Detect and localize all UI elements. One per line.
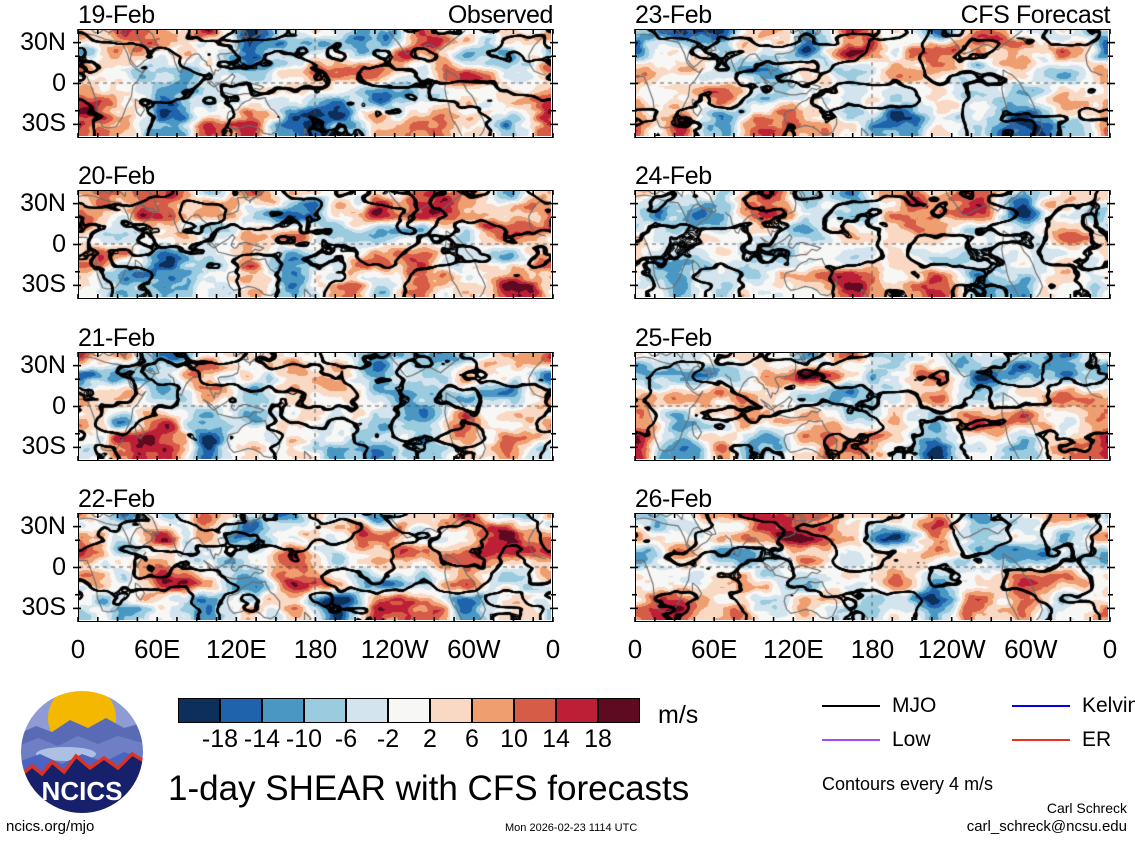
- x-axis-label: 180: [851, 636, 894, 662]
- shear-anomaly-field: [79, 353, 551, 459]
- panel-date-label: 26-Feb: [635, 487, 712, 512]
- map-panel-19-feb: 19-FebObserved: [78, 3, 553, 138]
- map-panel-24-feb: 24-Feb: [635, 164, 1110, 299]
- shear-anomaly-field: [79, 514, 551, 620]
- x-axis-label: 0: [546, 636, 560, 662]
- colorbar-tick-label: -10: [286, 727, 322, 752]
- colorbar-tick-label: -18: [202, 727, 238, 752]
- map-plot-area: [635, 29, 1110, 138]
- legend-item-mjo: MJO: [822, 694, 1002, 722]
- legend-label: MJO: [892, 695, 936, 716]
- legend-line-swatch: [1012, 739, 1070, 741]
- colorbar-tick-label: 14: [542, 727, 570, 752]
- map-plot-area: [78, 190, 553, 299]
- map-plot-area: [78, 513, 553, 622]
- colorbar-tick-label: 2: [423, 727, 437, 752]
- colorbar-group: [178, 698, 640, 723]
- x-axis-label: 120E: [763, 636, 824, 662]
- colorbar-tick-label: 10: [500, 727, 528, 752]
- footer-email-link[interactable]: carl_schreck@ncsu.edu: [967, 819, 1127, 834]
- contour-interval-note: Contours every 4 m/s: [822, 775, 993, 793]
- shear-anomaly-field: [636, 514, 1108, 620]
- panel-date-label: 25-Feb: [635, 326, 712, 351]
- footer-author-name: Carl Schreck: [1047, 801, 1127, 815]
- shear-anomaly-field: [636, 30, 1108, 136]
- x-axis-label: 60W: [1004, 636, 1057, 662]
- footer-timestamp: Mon 2026-02-23 1114 UTC: [505, 823, 637, 834]
- colorbar-tick-label: 6: [465, 727, 479, 752]
- ncics-logo[interactable]: NCICS: [18, 688, 146, 816]
- colorbar-tick-label: -14: [244, 727, 280, 752]
- y-axis-label: 30N: [0, 30, 66, 55]
- column-header-label: CFS Forecast: [961, 3, 1110, 28]
- panel-date-label: 20-Feb: [78, 164, 155, 189]
- map-plot-area: [78, 352, 553, 461]
- legend-label: Low: [892, 729, 931, 750]
- legend-line-swatch: [822, 705, 880, 707]
- x-axis-label: 60E: [134, 636, 180, 662]
- y-axis-label: 30S: [0, 272, 66, 297]
- map-plot-area: [78, 29, 553, 138]
- x-axis-label: 180: [294, 636, 337, 662]
- main-title: 1-day SHEAR with CFS forecasts: [168, 771, 689, 806]
- panel-date-label: 22-Feb: [78, 487, 155, 512]
- y-axis-label: 0: [0, 555, 66, 580]
- colorbar-units-label: m/s: [658, 703, 698, 728]
- panel-date-label: 19-Feb: [78, 3, 155, 28]
- map-panel-21-feb: 21-Feb: [78, 326, 553, 461]
- map-panel-26-feb: 26-Feb: [635, 487, 1110, 622]
- x-axis-label: 0: [1103, 636, 1117, 662]
- column-header-label: Observed: [448, 3, 553, 28]
- legend-line-swatch: [1012, 705, 1070, 707]
- y-axis-label: 30S: [0, 434, 66, 459]
- colorbar-tick-label: -6: [335, 727, 357, 752]
- legend-item-er: ER: [1012, 728, 1135, 756]
- y-axis-label: 0: [0, 71, 66, 96]
- ncics-logo-text: NCICS: [42, 776, 123, 806]
- colorbar-frame: [178, 698, 640, 723]
- legend-line-swatch: [822, 739, 880, 741]
- shear-anomaly-field: [636, 353, 1108, 459]
- colorbar-tick-label: 18: [584, 727, 612, 752]
- y-axis-label: 30N: [0, 514, 66, 539]
- legend-item-low: Low: [822, 728, 1002, 756]
- y-axis-label: 30S: [0, 111, 66, 136]
- x-axis-label: 60E: [691, 636, 737, 662]
- ncics-logo-graphic: NCICS: [18, 688, 146, 816]
- x-axis-label: 120E: [206, 636, 267, 662]
- map-plot-area: [635, 190, 1110, 299]
- map-plot-area: [635, 513, 1110, 622]
- panel-date-label: 24-Feb: [635, 164, 712, 189]
- y-axis-label: 30N: [0, 353, 66, 378]
- x-axis-label: 120W: [361, 636, 429, 662]
- y-axis-label: 30S: [0, 595, 66, 620]
- legend-label: ER: [1082, 729, 1111, 750]
- x-axis-label: 0: [628, 636, 642, 662]
- map-panel-22-feb: 22-Feb: [78, 487, 553, 622]
- shear-anomaly-field: [79, 30, 551, 136]
- y-axis-label: 0: [0, 232, 66, 257]
- colorbar-tick-label: -2: [377, 727, 399, 752]
- x-axis-label: 60W: [447, 636, 500, 662]
- shear-anomaly-field: [636, 191, 1108, 297]
- y-axis-label: 30N: [0, 191, 66, 216]
- map-panel-23-feb: 23-FebCFS Forecast: [635, 3, 1110, 138]
- map-plot-area: [635, 352, 1110, 461]
- legend-label: Kelvin x2: [1082, 695, 1135, 716]
- y-axis-label: 0: [0, 394, 66, 419]
- footer-site-link: ncics.org/mjo: [6, 819, 94, 834]
- legend-item-kelvin-x2: Kelvin x2: [1012, 694, 1135, 722]
- panel-date-label: 23-Feb: [635, 3, 712, 28]
- shear-anomaly-field: [79, 191, 551, 297]
- x-axis-label: 120W: [918, 636, 986, 662]
- map-panel-20-feb: 20-Feb: [78, 164, 553, 299]
- map-panel-25-feb: 25-Feb: [635, 326, 1110, 461]
- panel-date-label: 21-Feb: [78, 326, 155, 351]
- x-axis-label: 0: [71, 636, 85, 662]
